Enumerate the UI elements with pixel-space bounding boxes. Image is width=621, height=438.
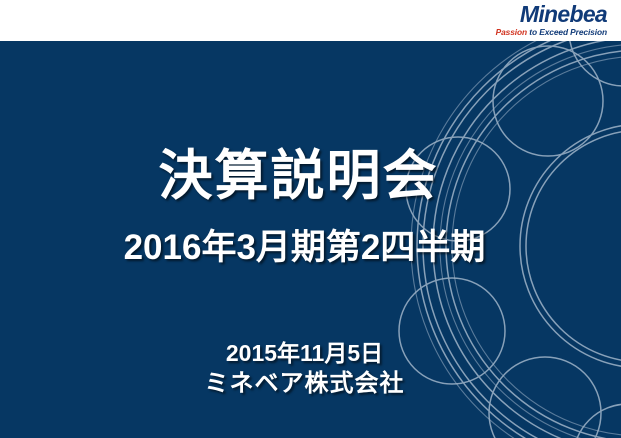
slide-body: 決算説明会 2016年3月期第2四半期 2015年11月5日 ミネベア株式会社: [0, 41, 621, 438]
logo-tagline-rest: to Exceed Precision: [527, 27, 607, 37]
presentation-title-slide: Minebea Passion to Exceed Precision: [0, 0, 621, 438]
page-title: 決算説明会: [0, 131, 609, 210]
logo-tagline-accent: Passion: [496, 27, 527, 37]
logo-tagline: Passion to Exceed Precision: [496, 28, 607, 36]
company-name: ミネベア株式会社: [0, 363, 615, 398]
page-subtitle: 2016年3月期第2四半期: [0, 219, 615, 270]
minebea-logo: Minebea Passion to Exceed Precision: [496, 3, 607, 36]
logo-wordmark: Minebea: [496, 3, 607, 26]
slide-header-band: Minebea Passion to Exceed Precision: [0, 0, 621, 41]
slide-text-block: 決算説明会 2016年3月期第2四半期 2015年11月5日 ミネベア株式会社: [0, 41, 621, 438]
